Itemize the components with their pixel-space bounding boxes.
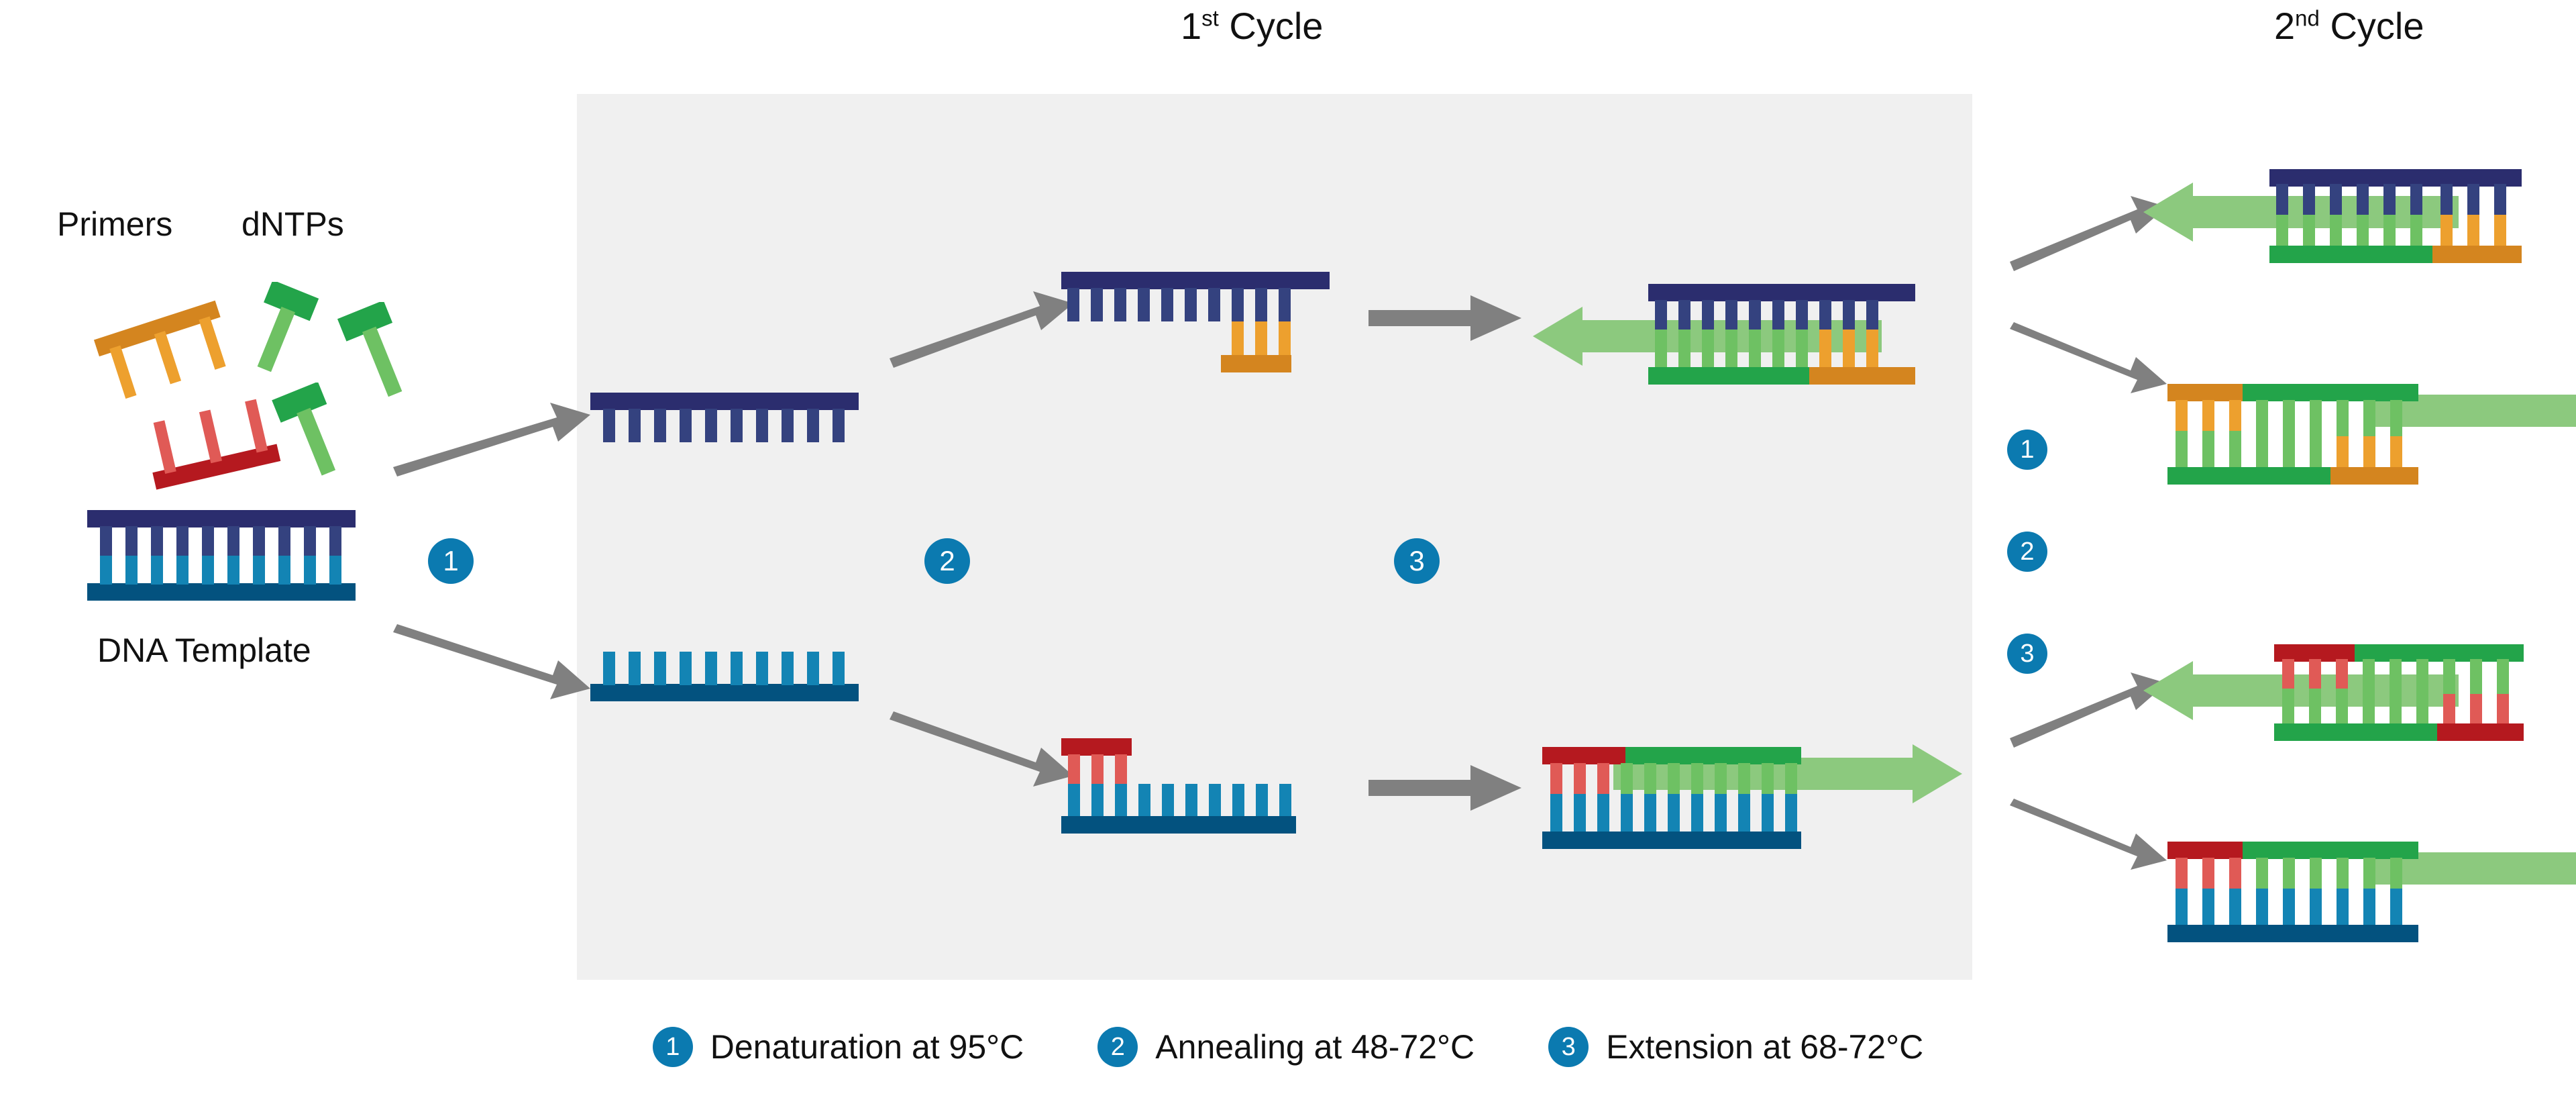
cycle-1-ordinal: 1 [1181, 5, 1201, 47]
cycle2-product-3 [2143, 624, 2573, 752]
dna-template-duplex [87, 510, 356, 601]
legend-badge-3: 3 [1548, 1027, 1589, 1067]
arrow-cycle2-2 [2006, 322, 2167, 403]
arrow-extend-bottom [1368, 765, 1523, 812]
legend-label-2: Annealing at 48-72°C [1155, 1027, 1474, 1066]
legend-item-denaturation: 1 Denaturation at 95°C [653, 1027, 1024, 1067]
dntp-molecule-3 [268, 383, 362, 490]
legend-item-annealing: 2 Annealing at 48-72°C [1097, 1027, 1474, 1067]
legend-label-3: Extension at 68-72°C [1606, 1027, 1923, 1066]
cycle-2-suffix: nd [2295, 5, 2320, 30]
cycle2-step-3-badge: 3 [2007, 634, 2047, 674]
extension-arrow-left-icon [2143, 661, 2459, 720]
arrow-cycle2-3 [2006, 671, 2167, 752]
dntps-label: dNTPs [241, 205, 344, 244]
step-1-badge: 1 [428, 538, 474, 584]
arrow-anneal-up [885, 289, 1073, 376]
legend-badge-2: 2 [1097, 1027, 1138, 1067]
cycle2-step-2-badge: 2 [2007, 532, 2047, 572]
legend: 1 Denaturation at 95°C 2 Annealing at 48… [0, 1020, 2576, 1074]
arrow-denature-up [389, 403, 590, 483]
cycle-2-word: Cycle [2330, 5, 2424, 47]
cycle-1-suffix: st [1201, 5, 1219, 30]
cycle-2-ordinal: 2 [2274, 5, 2295, 47]
cycle2-step-1-badge: 1 [2007, 430, 2047, 470]
arrow-extend-top [1368, 295, 1523, 342]
step-2-badge: 2 [924, 538, 970, 584]
dna-template-label: DNA Template [97, 631, 311, 670]
cycle2-product-4 [2143, 825, 2573, 953]
arrow-cycle2-4 [2006, 799, 2167, 879]
annealed-duplex-bottom [1061, 738, 1330, 846]
annealed-duplex-top [1061, 272, 1330, 379]
denatured-strand-blue [590, 648, 859, 701]
step-3-badge: 3 [1394, 538, 1440, 584]
legend-item-extension: 3 Extension at 68-72°C [1548, 1027, 1923, 1067]
arrow-cycle2-1 [2006, 195, 2167, 275]
cycle-1-title: 1st Cycle [1181, 4, 1323, 48]
cycle2-product-2 [2143, 369, 2573, 497]
extended-duplex-bottom [1533, 735, 1989, 856]
arrow-denature-down [389, 624, 590, 705]
cycle-2-title: 2nd Cycle [2274, 4, 2424, 48]
dntp-molecule-1 [235, 282, 322, 383]
primers-label: Primers [57, 205, 172, 244]
cycle-1-word: Cycle [1229, 5, 1323, 47]
denatured-strand-navy [590, 393, 859, 446]
arrow-anneal-down [885, 711, 1073, 799]
extended-duplex-top [1533, 265, 1989, 386]
legend-badge-1: 1 [653, 1027, 693, 1067]
legend-label-1: Denaturation at 95°C [710, 1027, 1024, 1066]
cycle2-product-1 [2143, 141, 2573, 268]
